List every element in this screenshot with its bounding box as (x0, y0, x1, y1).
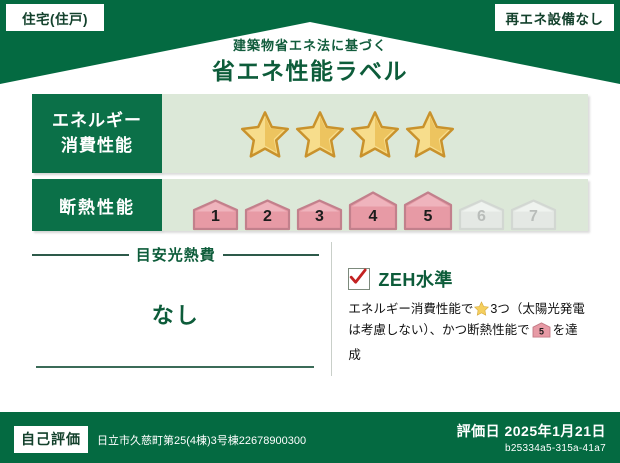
page-title: 省エネ性能ラベル (0, 58, 620, 84)
self-eval-badge: 自己評価 (14, 426, 88, 453)
lower-section: 目安光熱費 なし ZEH水準 エネルギー消費性能で3つ（太陽 (32, 238, 588, 404)
building-type-tag: 住宅(住戸) (6, 4, 104, 31)
zeh-desc-part1: エネルギー消費性能で (348, 302, 473, 316)
insulation-grade-number: 7 (510, 208, 557, 226)
star-icon (405, 110, 455, 158)
checkmark-icon (348, 267, 368, 287)
insulation-grade-number: 2 (244, 208, 291, 226)
heading-rule-right (223, 254, 320, 256)
building-type-tag-label: 住宅(住戸) (22, 8, 88, 28)
insulation-grade-scale: 1234567 (162, 179, 588, 231)
heading-rule-left (32, 254, 129, 256)
property-address: 日立市久慈町第25(4棟)3号棟22678900300 (97, 432, 306, 448)
insulation-performance-row: 断熱性能 1234567 (32, 179, 588, 231)
energy-performance-label-box: エネルギー 消費性能 (32, 94, 162, 173)
renewable-energy-tag-label: 再エネ設備なし (506, 8, 604, 28)
evaluation-id: b25334a5-315a-41a7 (457, 443, 606, 454)
insulation-grade-1: 1 (192, 199, 239, 231)
utility-cost-value: なし (32, 298, 319, 330)
insulation-grade-2: 2 (244, 199, 291, 231)
zeh-pane: ZEH水準 エネルギー消費性能で3つ（太陽光発電 は考慮しない）、かつ断熱性能で… (348, 238, 588, 404)
energy-performance-row: エネルギー 消費性能 (32, 94, 588, 173)
star-icon (240, 110, 290, 158)
insulation-grade-5: 5 (403, 191, 453, 231)
label-content: エネルギー 消費性能 断熱性能 1234567 目安光熱費 なし (18, 86, 602, 410)
energy-performance-label: 住宅(住戸) 再エネ設備なし 建築物省エネ法に基づく 省エネ性能ラベル エネルギ… (0, 0, 620, 463)
zeh-desc-part2: 3つ（太陽光発電 (490, 302, 584, 316)
zeh-description: エネルギー消費性能で3つ（太陽光発電 は考慮しない）、かつ断熱性能で5を達成 (348, 299, 588, 366)
utility-cost-heading: 目安光熱費 (32, 244, 319, 265)
insulation-grade-number: 4 (348, 208, 398, 226)
footer-left: 自己評価 日立市久慈町第25(4棟)3号棟22678900300 (14, 426, 306, 453)
label-header: 建築物省エネ法に基づく 省エネ性能ラベル (0, 38, 620, 84)
insulation-grade-number: 6 (458, 208, 505, 226)
zeh-title-row: ZEH水準 (348, 266, 588, 292)
star-icon (350, 110, 400, 158)
insulation-grade-3: 3 (296, 199, 343, 231)
grade-house-number: 5 (539, 327, 544, 337)
star-icon (474, 301, 489, 316)
insulation-grade-number: 5 (403, 208, 453, 226)
footer-right: 評価日 2025年1月21日 b25334a5-315a-41a7 (457, 421, 606, 454)
evaluation-date: 評価日 2025年1月21日 (457, 421, 606, 441)
zeh-grade-badge: 5 (532, 322, 551, 345)
insulation-grade-number: 1 (192, 208, 239, 226)
insulation-performance-label-box: 断熱性能 (32, 179, 162, 231)
energy-performance-label-line1: エネルギー (52, 109, 142, 134)
zeh-title: ZEH水準 (378, 266, 453, 292)
renewable-energy-tag: 再エネ設備なし (495, 4, 614, 31)
star-icon (295, 110, 345, 158)
insulation-performance-label: 断熱性能 (59, 193, 135, 218)
utility-cost-pane: 目安光熱費 なし (32, 238, 319, 404)
insulation-grade-6: 6 (458, 199, 505, 231)
star-rating (162, 94, 588, 173)
utility-cost-heading-label: 目安光熱費 (136, 244, 216, 265)
pane-divider (331, 242, 332, 376)
energy-performance-label-line2: 消費性能 (61, 134, 133, 159)
grade-house-icon: 5 (532, 322, 551, 338)
insulation-grade-7: 7 (510, 199, 557, 231)
insulation-grade-4: 4 (348, 191, 398, 231)
insulation-grade-number: 3 (296, 208, 343, 226)
header-subtitle: 建築物省エネ法に基づく (0, 38, 620, 54)
zeh-desc-part3: は考慮しない）、かつ断熱性能で (348, 323, 529, 337)
utility-cost-bottom-rule (36, 366, 314, 368)
zeh-checkbox[interactable] (348, 268, 370, 290)
